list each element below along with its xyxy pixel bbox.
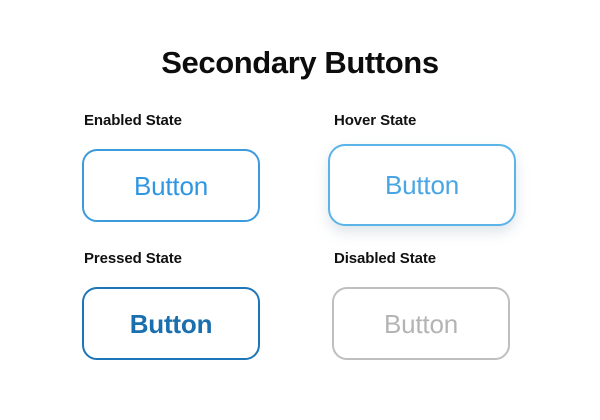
secondary-button-pressed[interactable]: Button [82,287,260,360]
state-label-enabled: Enabled State [84,112,260,129]
state-cell-disabled: Disabled State Button [332,250,510,360]
state-label-hover: Hover State [334,112,516,129]
secondary-button-enabled[interactable]: Button [82,149,260,222]
state-cell-hover: Hover State Button [332,112,516,226]
state-cell-enabled: Enabled State Button [82,112,260,222]
button-label: Button [130,311,213,337]
button-label: Button [134,173,208,199]
button-label: Button [385,172,459,198]
page-title: Secondary Buttons [0,45,600,81]
secondary-button-hover[interactable]: Button [328,144,516,226]
secondary-button-disabled: Button [332,287,510,360]
button-label: Button [384,311,458,337]
button-states-showcase: Secondary Buttons Enabled State Button H… [0,0,600,420]
state-label-pressed: Pressed State [84,250,260,267]
state-label-disabled: Disabled State [334,250,510,267]
state-cell-pressed: Pressed State Button [82,250,260,360]
